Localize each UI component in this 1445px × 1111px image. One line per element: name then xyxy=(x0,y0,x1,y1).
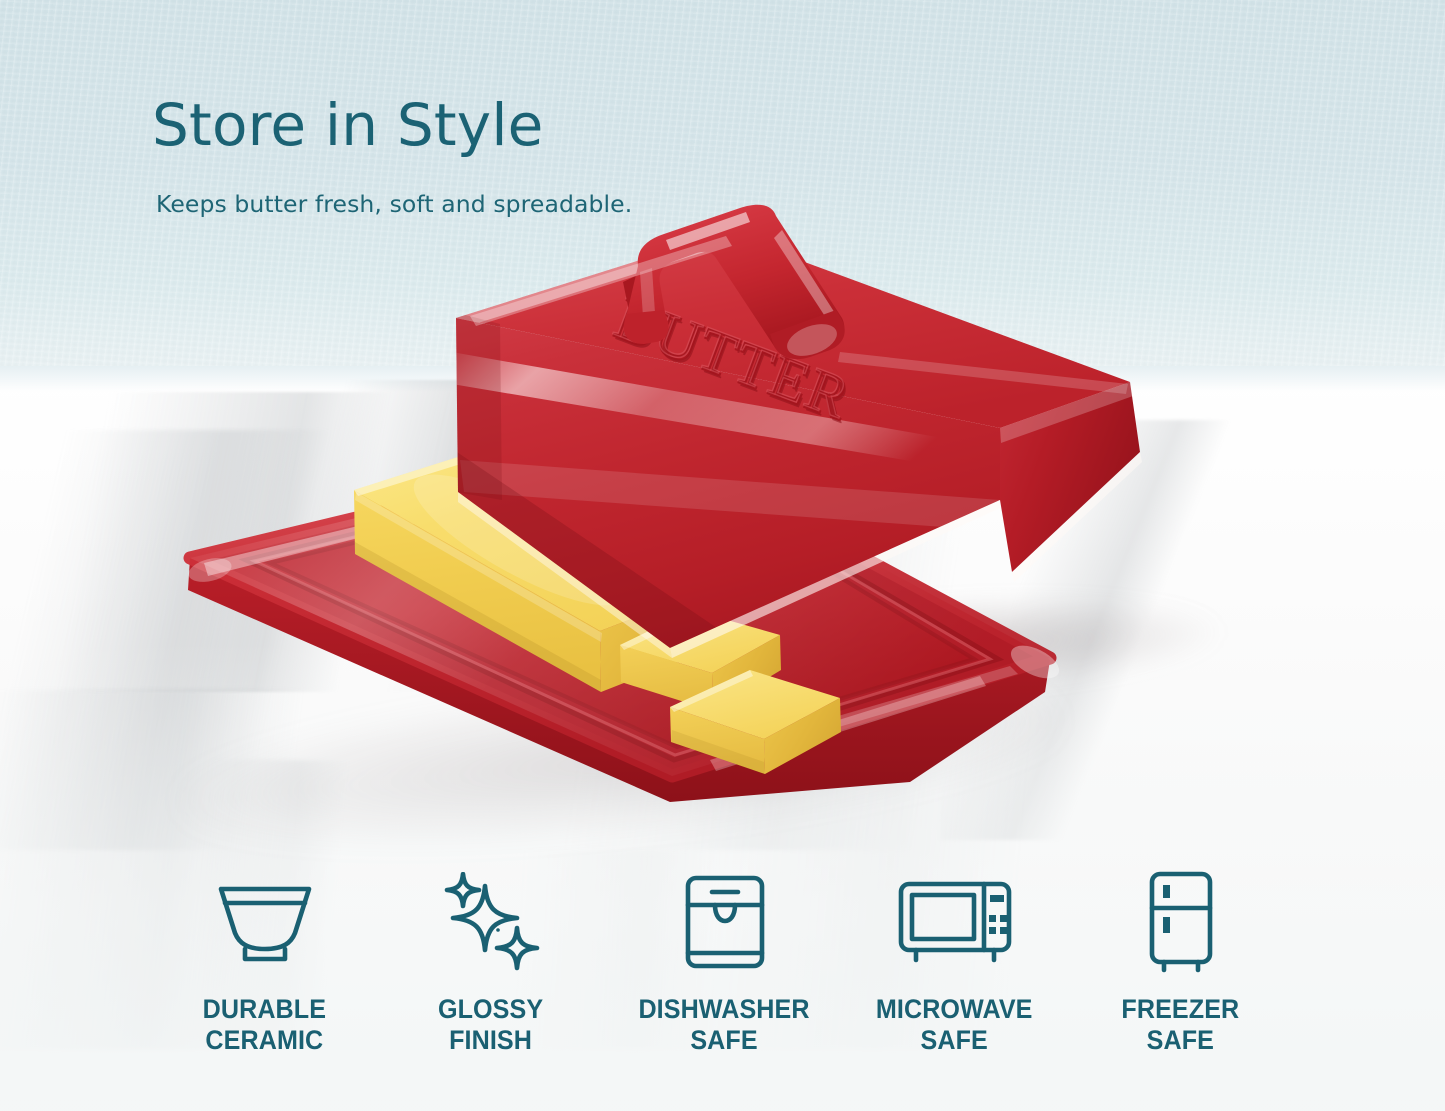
feature-label-line1: GLOSSY xyxy=(438,994,543,1025)
feature-glossy-finish: GLOSSY FINISH xyxy=(385,868,597,1057)
feature-icon-row: DURABLE CERAMIC GLOSSY FINISH xyxy=(0,868,1445,1078)
feature-label-line2: SAFE xyxy=(876,1025,1033,1056)
feature-label-line2: FINISH xyxy=(438,1025,543,1056)
feature-label-line1: FREEZER xyxy=(1122,994,1240,1025)
feature-label-line2: SAFE xyxy=(1122,1025,1240,1056)
feature-label: FREEZER SAFE xyxy=(1122,994,1240,1057)
feature-label-line2: CERAMIC xyxy=(203,1025,326,1056)
feature-durable-ceramic: DURABLE CERAMIC xyxy=(159,868,371,1057)
feature-label: DISHWASHER SAFE xyxy=(639,994,810,1057)
product-marketing-image: Store in Style Keeps butter fresh, soft … xyxy=(0,0,1445,1111)
dishwasher-icon xyxy=(682,868,768,976)
feature-freezer-safe: FREEZER SAFE xyxy=(1075,868,1287,1057)
sparkle-icon xyxy=(439,868,543,976)
feature-label: MICROWAVE SAFE xyxy=(876,994,1033,1057)
feature-dishwasher-safe: DISHWASHER SAFE xyxy=(619,868,831,1057)
feature-label-line2: SAFE xyxy=(639,1025,810,1056)
feature-microwave-safe: MICROWAVE SAFE xyxy=(849,868,1061,1057)
microwave-icon xyxy=(896,868,1014,976)
product-photo: BUTTER BUTTER BUTTER xyxy=(0,0,1445,900)
feature-label-line1: DURABLE xyxy=(203,994,326,1025)
feature-label-line1: DISHWASHER xyxy=(639,994,810,1025)
feature-label-line1: MICROWAVE xyxy=(876,994,1033,1025)
butter-dish-lid: BUTTER BUTTER BUTTER xyxy=(440,200,1160,680)
fridge-icon xyxy=(1146,868,1216,976)
lid-shape: BUTTER BUTTER BUTTER xyxy=(440,200,1160,680)
feature-label: GLOSSY FINISH xyxy=(438,994,543,1057)
bowl-icon xyxy=(213,868,317,976)
feature-label: DURABLE CERAMIC xyxy=(203,994,326,1057)
